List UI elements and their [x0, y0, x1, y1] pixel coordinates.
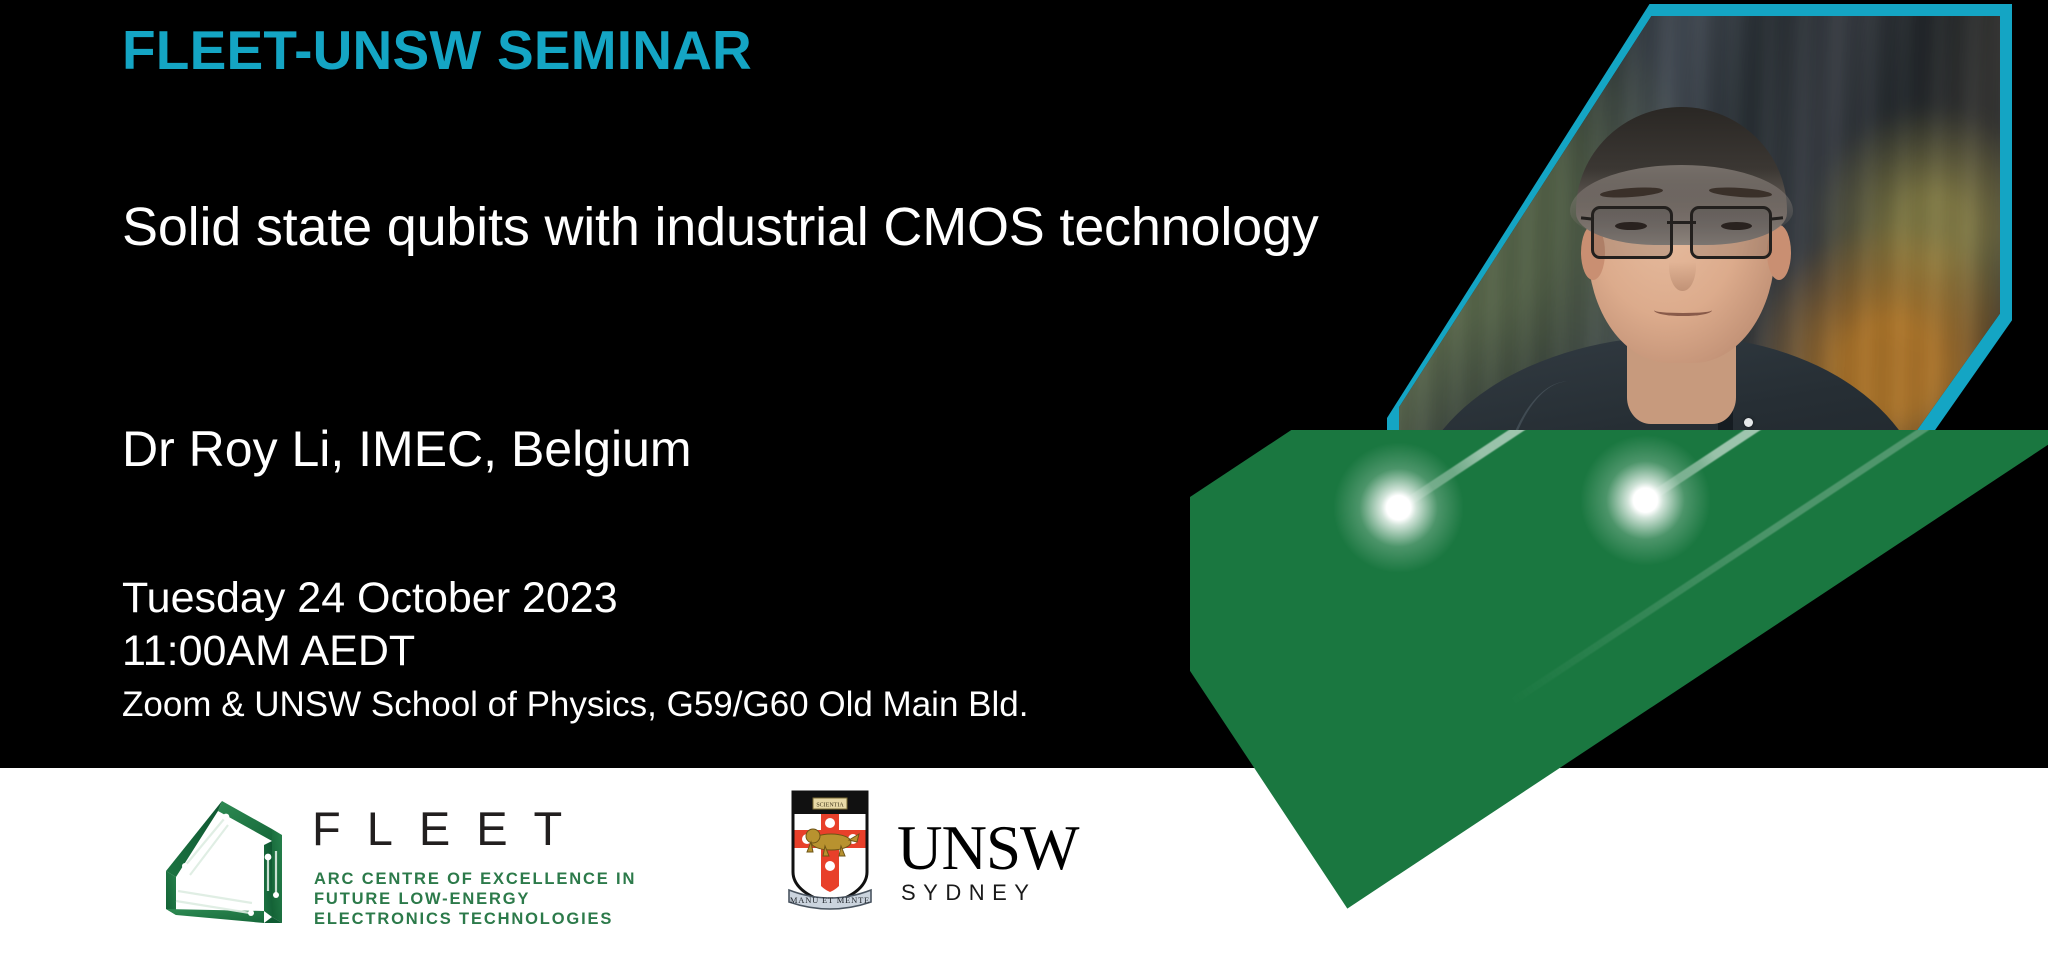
speaker-name: Dr Roy Li, IMEC, Belgium — [122, 420, 692, 478]
fleet-logo[interactable]: FLEET ARC CENTRE OF EXCELLENCE IN FUTURE… — [160, 795, 630, 935]
mouth — [1654, 305, 1711, 316]
unsw-subtitle: SYDNEY — [901, 880, 1036, 906]
fleet-wordmark: FLEET — [312, 801, 588, 856]
event-date: Tuesday 24 October 2023 — [122, 574, 618, 623]
shirt-button-icon — [1744, 418, 1753, 427]
event-time: 11:00AM AEDT — [122, 627, 415, 676]
glasses-bridge — [1667, 221, 1696, 224]
green-diagonal-band — [1190, 430, 2048, 961]
glasses-lens-right — [1690, 206, 1772, 259]
nose — [1669, 242, 1695, 292]
circuit-streak — [1393, 430, 2048, 514]
event-venue: Zoom & UNSW School of Physics, G59/G60 O… — [122, 685, 1028, 725]
fleet-tagline-line-1: ARC CENTRE OF EXCELLENCE IN — [314, 869, 636, 889]
svg-text:MANU ET MENTE: MANU ET MENTE — [790, 895, 870, 905]
green-slab — [1190, 430, 2048, 909]
fleet-tagline-line-2: FUTURE LOW-ENERGY — [314, 889, 636, 909]
fleet-tagline: ARC CENTRE OF EXCELLENCE IN FUTURE LOW-E… — [314, 869, 636, 929]
seminar-kicker: FLEET-UNSW SEMINAR — [122, 18, 752, 82]
unsw-wordmark: UNSW — [897, 812, 1079, 885]
fleet-penrose-triangle-icon — [160, 795, 290, 930]
unsw-logo[interactable]: SCIENTIA — [787, 786, 1087, 926]
unsw-crest-icon: SCIENTIA — [787, 786, 873, 916]
svg-text:SCIENTIA: SCIENTIA — [816, 803, 844, 809]
electron-glow-icon — [1307, 430, 1490, 599]
fleet-tagline-line-3: ELECTRONICS TECHNOLOGIES — [314, 909, 636, 929]
seminar-poster: FLEET-UNSW SEMINAR Solid state qubits wi… — [0, 0, 2048, 961]
talk-title: Solid state qubits with industrial CMOS … — [122, 196, 1319, 258]
glasses-lens-left — [1591, 206, 1673, 259]
